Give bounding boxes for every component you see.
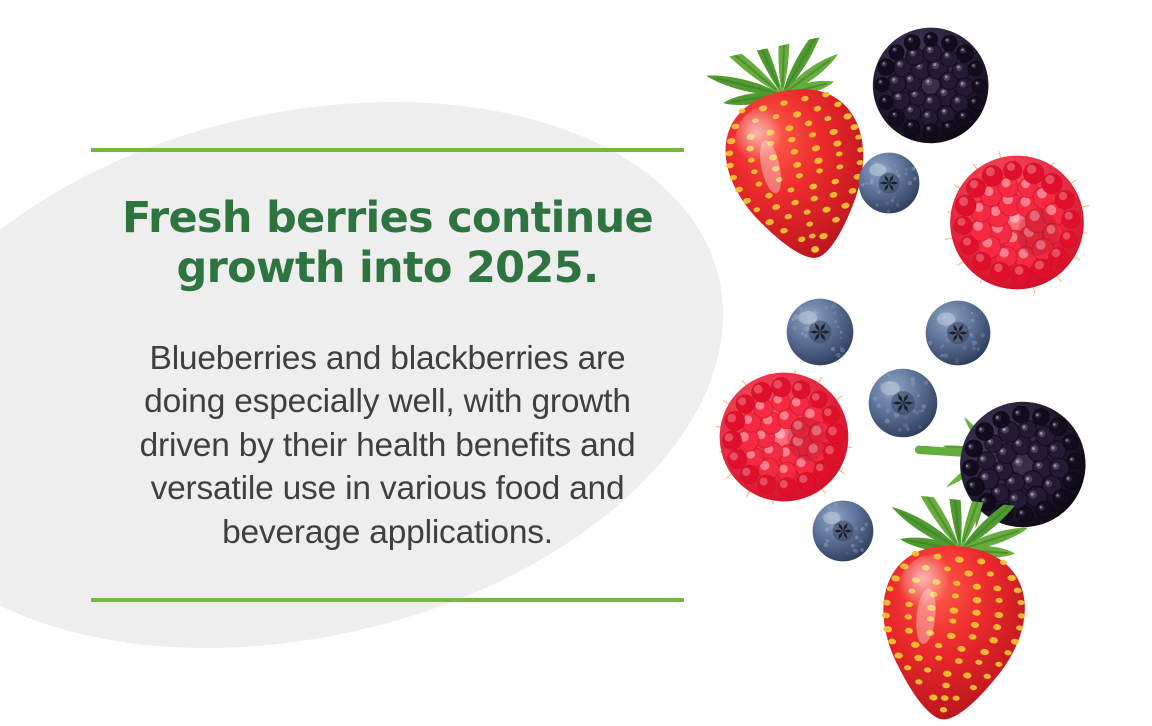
blackberry-low-image (941, 379, 1104, 544)
body-line-2: doing especially well, with growth (91, 380, 684, 424)
blackberry-top-image (864, 14, 998, 151)
blueberry-low-image (812, 500, 874, 562)
body-line-4: versatile use in various food and (91, 467, 684, 511)
raspberry-left-image (710, 363, 859, 510)
infographic-canvas: Fresh berries continue growth into 2025.… (0, 0, 1152, 726)
body-paragraph: Blueberries and blackberries are doing e… (91, 294, 684, 599)
strawberry-top-image (691, 30, 897, 275)
body-line-5: beverage applications. (91, 511, 684, 555)
blueberry-left-image (786, 298, 854, 366)
blueberry-upper-image (858, 152, 920, 214)
blueberry-right-image (925, 300, 991, 366)
body-line-3: driven by their health benefits and (91, 424, 684, 468)
text-column: Fresh berries continue growth into 2025.… (91, 148, 684, 602)
strawberry-bot-image (858, 492, 1050, 726)
page-title: Fresh berries continue growth into 2025. (91, 152, 684, 294)
blueberry-mid-image (868, 368, 938, 438)
body-line-1: Blueberries and blackberries are (91, 337, 684, 381)
raspberry-right-image (933, 140, 1102, 305)
headline-line-2: growth into 2025. (91, 244, 684, 294)
headline-line-1: Fresh berries continue (91, 194, 684, 244)
bottom-rule (91, 598, 684, 602)
